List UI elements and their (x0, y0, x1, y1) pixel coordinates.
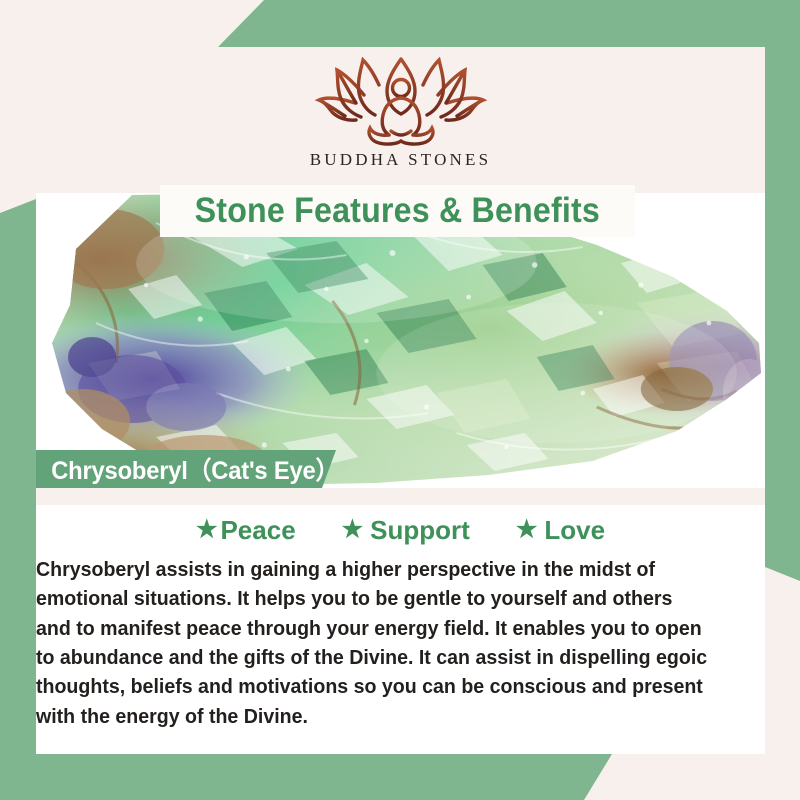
star-icon: ★ (342, 518, 364, 542)
brand-name: BUDDHA STONES (310, 150, 492, 170)
lotus-meditation-icon (315, 55, 487, 147)
stone-description: Chrysoberyl assists in gaining a higher … (36, 555, 732, 731)
frame-band-bottom (0, 754, 612, 800)
benefit-item-peace: ★ Peace (196, 515, 296, 546)
frame-band-top (218, 0, 800, 47)
star-icon: ★ (516, 518, 538, 542)
brand-logo: BUDDHA STONES (36, 55, 765, 170)
page-title: Stone Features & Benefits (195, 191, 600, 231)
stone-photo (36, 193, 765, 493)
benefits-row: ★ Peace ★ Support ★ Love (36, 509, 765, 551)
page-title-banner: Stone Features & Benefits (160, 185, 635, 237)
info-card: BUDDHA STONES Stone Features & Benefits (36, 47, 765, 754)
benefit-label: Support (370, 515, 470, 546)
stone-name-text: Chrysoberyl（Cat's Eye） (36, 451, 339, 487)
frame-band-left (0, 199, 36, 800)
benefit-label: Peace (220, 515, 295, 546)
benefit-label: Love (544, 515, 605, 546)
star-icon: ★ (196, 518, 218, 542)
frame-band-right (765, 0, 800, 581)
brand-header: BUDDHA STONES (36, 47, 765, 193)
stone-name-label: Chrysoberyl（Cat's Eye） (36, 450, 336, 488)
section-divider-strip (36, 488, 765, 505)
benefit-item-love: ★ Love (516, 515, 605, 546)
benefit-item-support: ★ Support (342, 515, 470, 546)
